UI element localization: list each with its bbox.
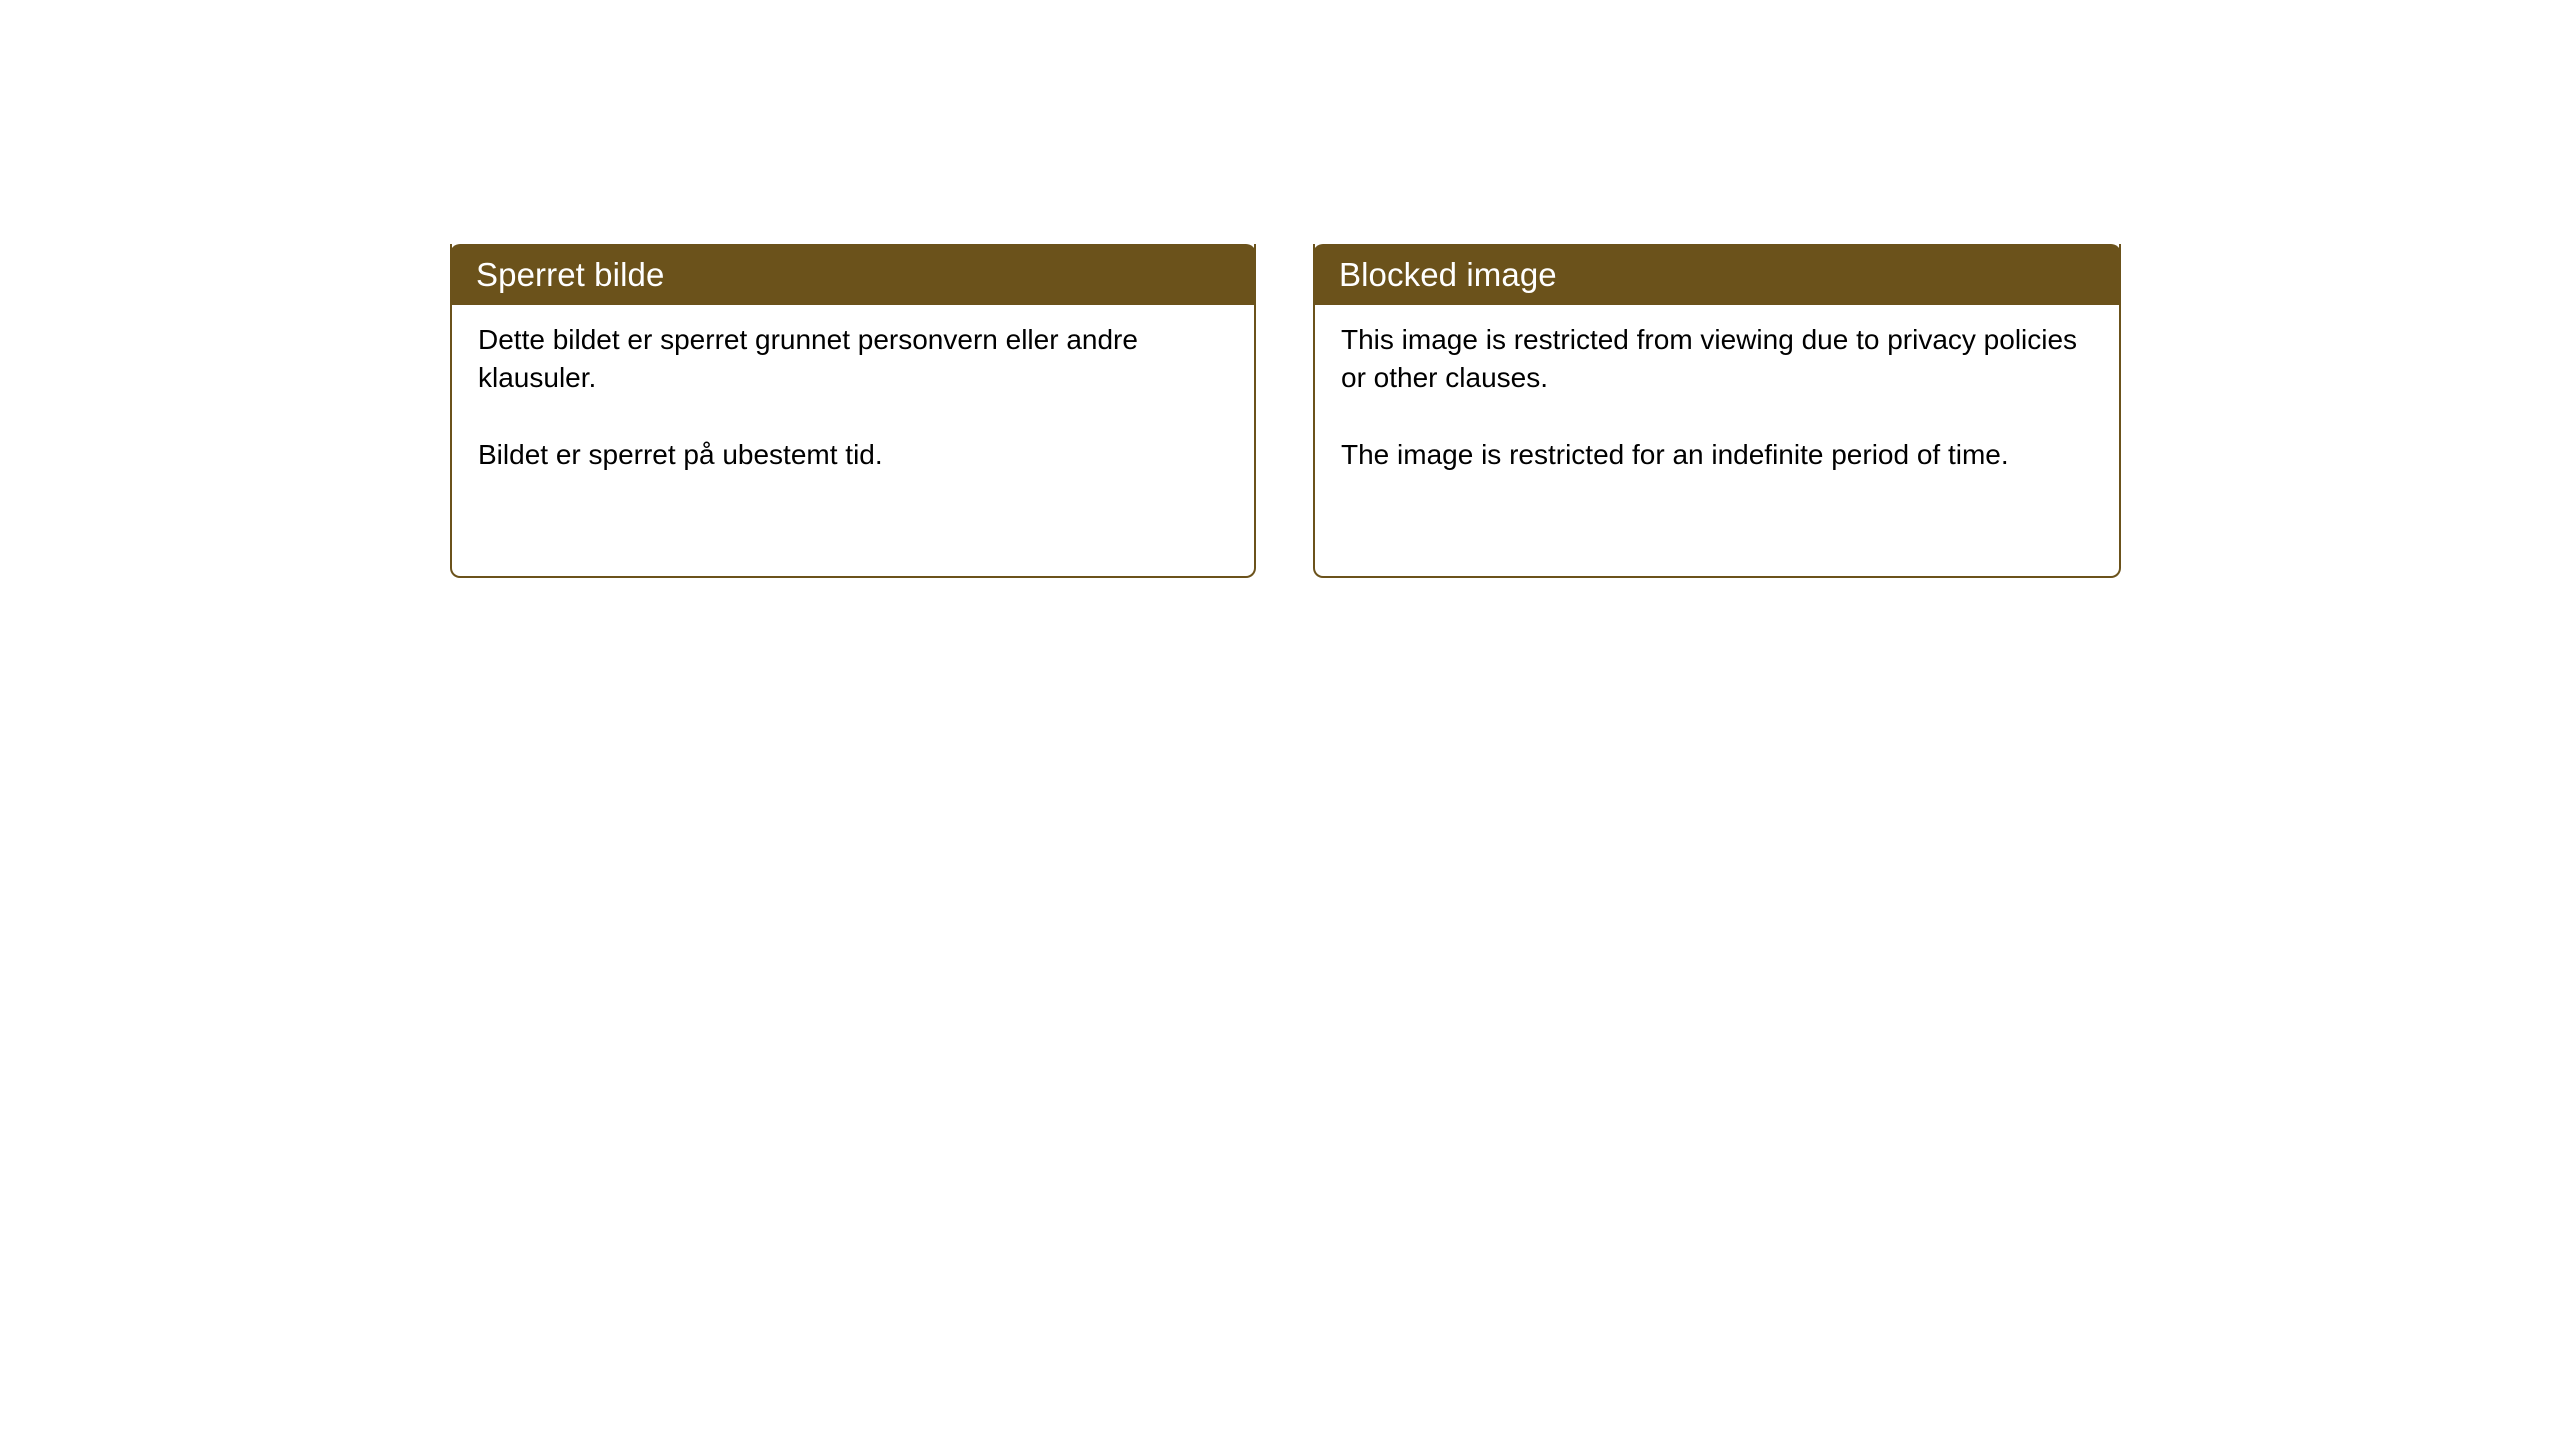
card-body-norwegian: Dette bildet er sperret grunnet personve… (452, 305, 1254, 576)
card-header-norwegian: Sperret bilde (450, 244, 1256, 305)
card-title-norwegian: Sperret bilde (476, 258, 664, 291)
blocked-image-notice-card-english: Blocked image This image is restricted f… (1313, 244, 2121, 578)
card-paragraph-reason-norwegian: Dette bildet er sperret grunnet personve… (478, 321, 1228, 397)
card-paragraph-reason-english: This image is restricted from viewing du… (1341, 321, 2093, 397)
card-paragraph-duration-norwegian: Bildet er sperret på ubestemt tid. (478, 436, 1228, 474)
card-paragraph-duration-english: The image is restricted for an indefinit… (1341, 436, 2093, 474)
card-title-english: Blocked image (1339, 258, 1557, 291)
blocked-image-notice-card-norwegian: Sperret bilde Dette bildet er sperret gr… (450, 244, 1256, 578)
page-root: Sperret bilde Dette bildet er sperret gr… (0, 0, 2560, 1440)
card-header-english: Blocked image (1313, 244, 2121, 305)
card-body-english: This image is restricted from viewing du… (1315, 305, 2119, 576)
blocked-image-notices: Sperret bilde Dette bildet er sperret gr… (450, 244, 2121, 578)
